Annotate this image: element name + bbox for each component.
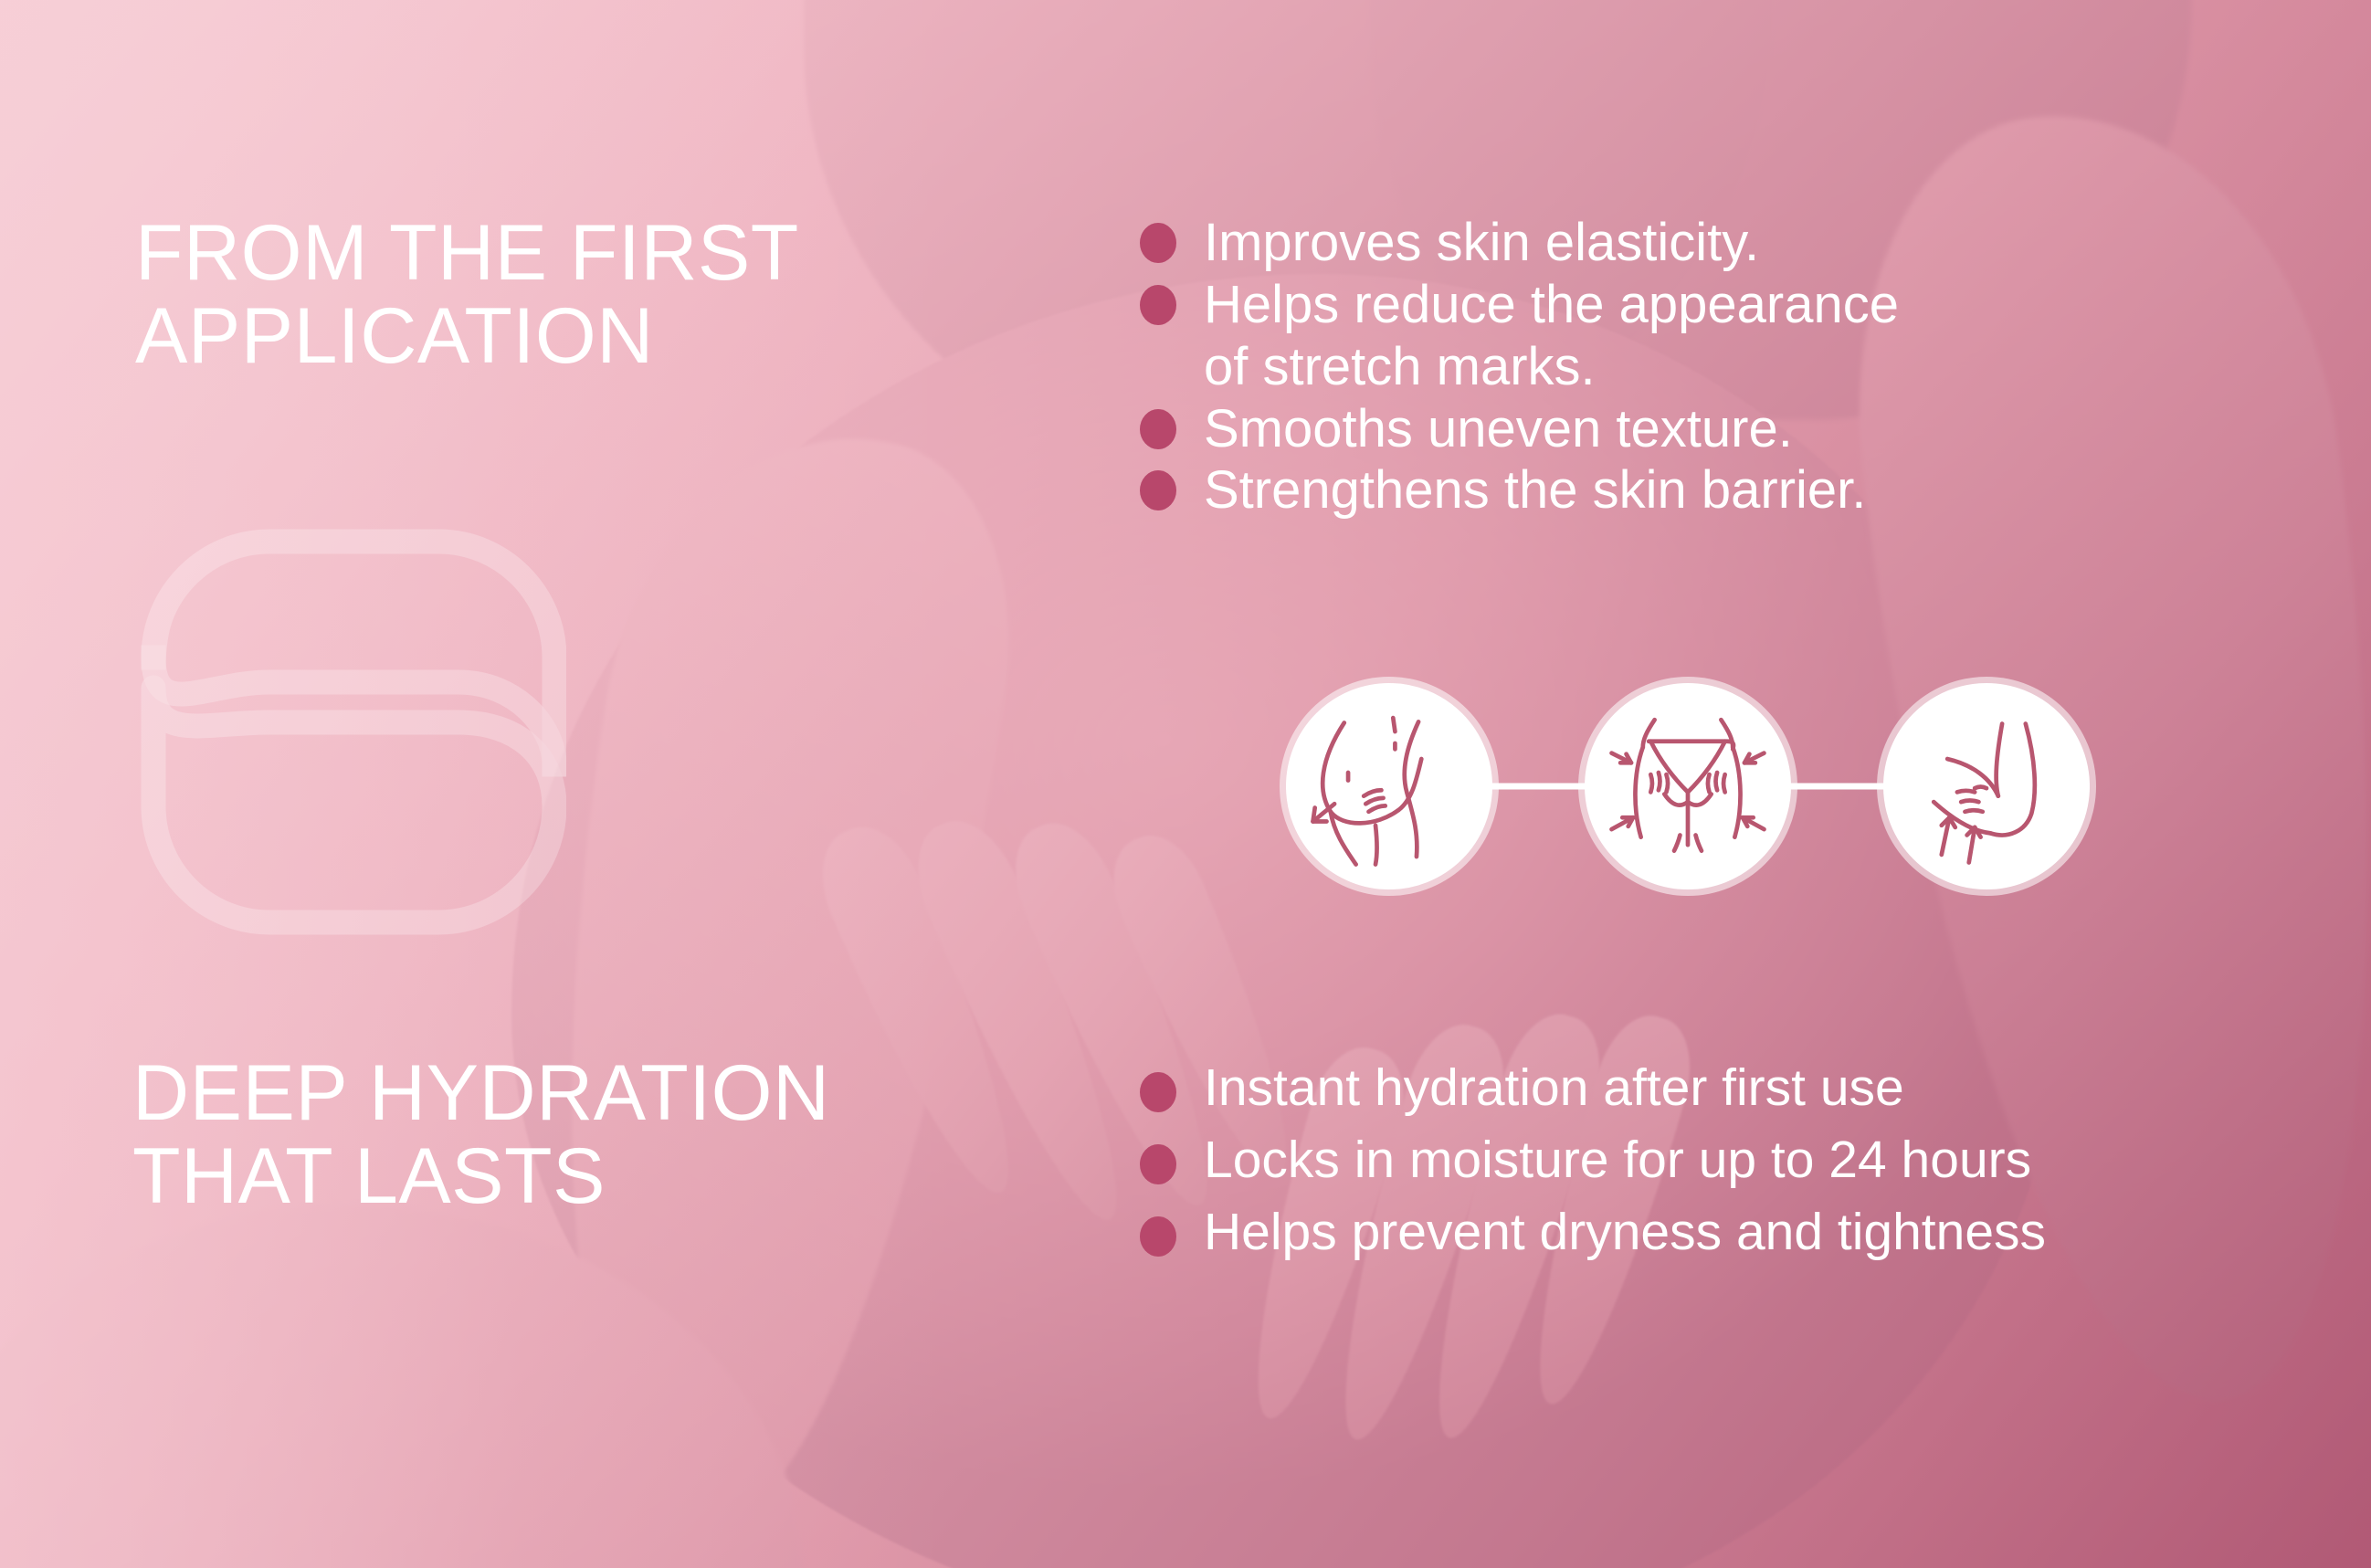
bullet-dot-icon: [1140, 223, 1176, 263]
benefit-bottom-item: Instant hydration after first use: [1140, 1052, 2327, 1124]
benefits-list-bottom: Instant hydration after first useLocks i…: [1140, 1052, 2327, 1269]
benefit-bottom-text: Helps prevent dryness and tightness: [1204, 1196, 2046, 1268]
headline-deep-hydration-that-lasts: DEEP HYDRATION THAT LASTS: [132, 1052, 1009, 1218]
hips-buttocks-icon[interactable]: [1585, 683, 1791, 889]
bullet-dot-icon: [1140, 1144, 1176, 1184]
benefit-top-text: Smooths uneven texture.: [1204, 398, 1793, 460]
benefit-bottom-text: Instant hydration after first use: [1204, 1052, 1904, 1124]
bullet-dot-icon: [1140, 1216, 1176, 1257]
benefit-top-text: Helps reduce the appearance: [1204, 274, 1899, 336]
benefit-top-item: Helps reduce the appearance: [1140, 274, 2300, 336]
benefit-top-text: of stretch marks.: [1204, 336, 1596, 398]
benefit-top-item: of stretch marks.: [1140, 336, 2300, 398]
bullet-dot-icon: [1140, 1072, 1176, 1112]
bullet-dot-icon: [1140, 409, 1176, 449]
benefit-bottom-item: Helps prevent dryness and tightness: [1140, 1196, 2327, 1268]
bullet-dot-icon: [1140, 285, 1176, 325]
benefit-top-item: Strengthens the skin barrier.: [1140, 459, 2300, 521]
body-area-icon-row: [1286, 683, 2090, 889]
bullet-dot-icon: [1140, 470, 1176, 510]
belly-abdomen-icon[interactable]: [1286, 683, 1492, 889]
benefit-top-item: Smooths uneven texture.: [1140, 398, 2300, 460]
infographic-canvas: FROM THE FIRST APPLICATION DEEP HYDRATIO…: [0, 0, 2371, 1568]
benefit-bottom-text: Locks in moisture for up to 24 hours: [1204, 1124, 2031, 1196]
benefit-bottom-item: Locks in moisture for up to 24 hours: [1140, 1124, 2327, 1196]
arm-icon[interactable]: [1883, 683, 2090, 889]
benefits-list-top: Improves skin elasticity.Helps reduce th…: [1140, 212, 2300, 521]
benefit-top-item: Improves skin elasticity.: [1140, 212, 2300, 274]
headline-from-the-first-application: FROM THE FIRST APPLICATION: [135, 212, 975, 378]
benefit-top-text: Strengthens the skin barrier.: [1204, 459, 1866, 521]
benefit-top-text: Improves skin elasticity.: [1204, 212, 1759, 274]
